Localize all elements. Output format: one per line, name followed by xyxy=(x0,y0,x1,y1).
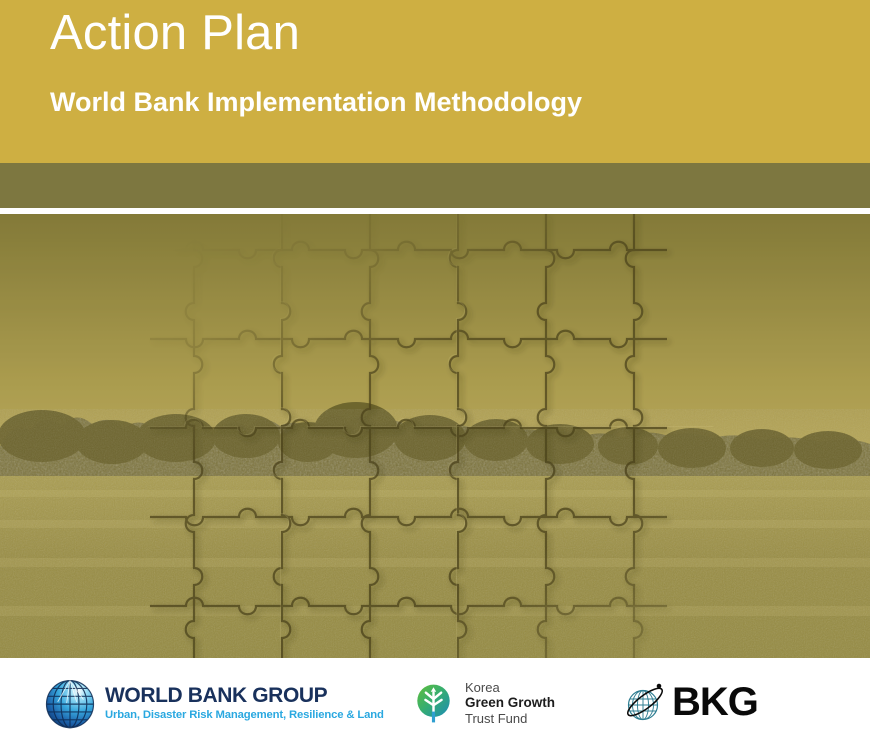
bkg-logo[interactable]: BKG xyxy=(620,677,758,727)
logo-row: WORLD BANK GROUP Urban, Disaster Risk Ma… xyxy=(0,658,870,746)
cover-page: Action Plan World Bank Implementation Me… xyxy=(0,0,870,746)
hero-illustration xyxy=(0,214,870,658)
globe-icon xyxy=(42,675,98,731)
kggtf-line-3: Trust Fund xyxy=(465,711,555,726)
kggtf-line-2: Green Growth xyxy=(465,695,555,711)
header-band: Action Plan World Bank Implementation Me… xyxy=(0,0,870,163)
world-bank-tagline: Urban, Disaster Risk Management, Resilie… xyxy=(105,708,384,722)
world-bank-text: WORLD BANK GROUP Urban, Disaster Risk Ma… xyxy=(105,684,384,722)
world-bank-group-logo[interactable]: WORLD BANK GROUP Urban, Disaster Risk Ma… xyxy=(42,675,384,731)
sepia-tint xyxy=(0,214,870,658)
kggtf-line-1: Korea xyxy=(465,680,555,695)
bkg-wordmark: BKG xyxy=(672,681,758,723)
world-bank-title: WORLD BANK GROUP xyxy=(105,684,384,707)
green-tree-circle-icon xyxy=(411,681,456,726)
accent-band xyxy=(0,163,870,208)
page-title: Action Plan xyxy=(50,2,300,64)
page-subtitle: World Bank Implementation Methodology xyxy=(50,82,582,122)
globe-orbit-icon xyxy=(620,677,670,727)
korea-green-growth-text: Korea Green Growth Trust Fund xyxy=(465,680,555,726)
hero-image xyxy=(0,214,870,658)
footer: WORLD BANK GROUP Urban, Disaster Risk Ma… xyxy=(0,658,870,746)
korea-green-growth-trust-fund-logo[interactable]: Korea Green Growth Trust Fund xyxy=(411,680,555,726)
